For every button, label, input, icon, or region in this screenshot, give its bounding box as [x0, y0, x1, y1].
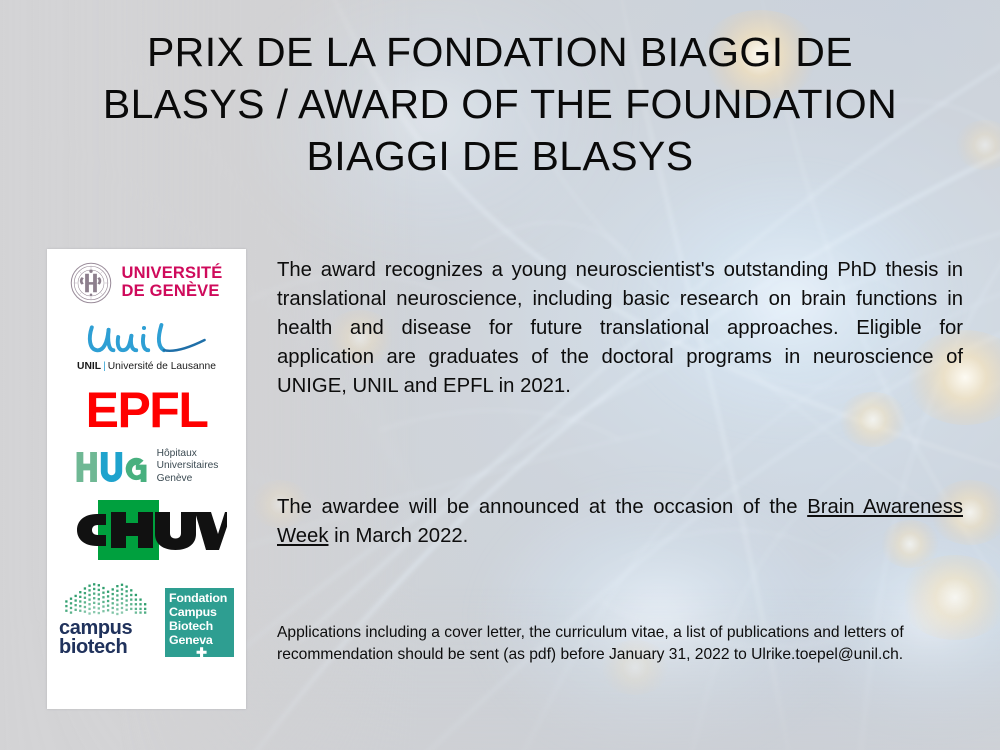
hug-line-2: Universitaires	[157, 460, 219, 472]
fondation-campus-biotech-geneva-logo: Fondation Campus Biotech Geneva ✚	[165, 588, 234, 657]
announcement-paragraph: The awardee will be announced at the occ…	[277, 493, 963, 551]
announcement-text-after: in March 2022.	[328, 525, 468, 547]
campus-biotech-building-icon	[59, 579, 153, 617]
bottom-logo-row: campus biotech Fondation Campus Biotech …	[59, 579, 234, 657]
unil-separator: |	[101, 361, 108, 372]
award-description-paragraph: The award recognizes a young neuroscient…	[277, 256, 963, 401]
hug-line-1: Hôpitaux	[157, 448, 219, 460]
hug-fullname: Hôpitaux Universitaires Genève	[157, 448, 219, 485]
page-title: PRIX DE LA FONDATION BIAGGI DE BLASYS / …	[70, 26, 930, 182]
announcement-text-before: The awardee will be announced at the occ…	[277, 496, 807, 518]
unil-subtitle: UNIL|Université de Lausanne	[58, 361, 236, 372]
unige-line-1: UNIVERSITÉ	[121, 265, 222, 283]
fcbg-line-2: Campus	[169, 606, 234, 620]
fcbg-line-1: Fondation	[169, 592, 234, 606]
application-instructions-paragraph: Applications including a cover letter, t…	[277, 622, 963, 666]
unil-abbr: UNIL	[77, 361, 101, 372]
partner-logos-panel: UNIVERSITÉ DE GENÈVE UNIL|Université d	[47, 249, 246, 709]
unige-line-2: DE GENÈVE	[121, 283, 222, 301]
hug-line-3: Genève	[157, 473, 219, 485]
campus-biotech-wordmark: campus biotech	[59, 619, 157, 657]
universite-de-geneve-logo: UNIVERSITÉ DE GENÈVE	[70, 262, 222, 304]
unige-wordmark: UNIVERSITÉ DE GENÈVE	[121, 265, 222, 301]
unil-fullname: Université de Lausanne	[108, 361, 216, 372]
unil-script-icon	[81, 320, 213, 360]
campus-biotech-logo: campus biotech	[59, 579, 157, 657]
unige-seal-icon	[70, 262, 112, 304]
slide-canvas: PRIX DE LA FONDATION BIAGGI DE BLASYS / …	[0, 0, 1000, 750]
unil-logo: UNIL|Université de Lausanne	[58, 320, 236, 372]
chuv-logo	[67, 499, 227, 561]
epfl-logo: EPFL	[86, 385, 208, 435]
fcbg-line-3: Biotech	[169, 620, 234, 634]
fcbg-plus-icon: ✚	[169, 646, 234, 660]
hug-wordmark-icon	[75, 450, 149, 484]
hug-logo: Hôpitaux Universitaires Genève	[75, 448, 219, 485]
campus-biotech-line-2: biotech	[59, 638, 157, 657]
